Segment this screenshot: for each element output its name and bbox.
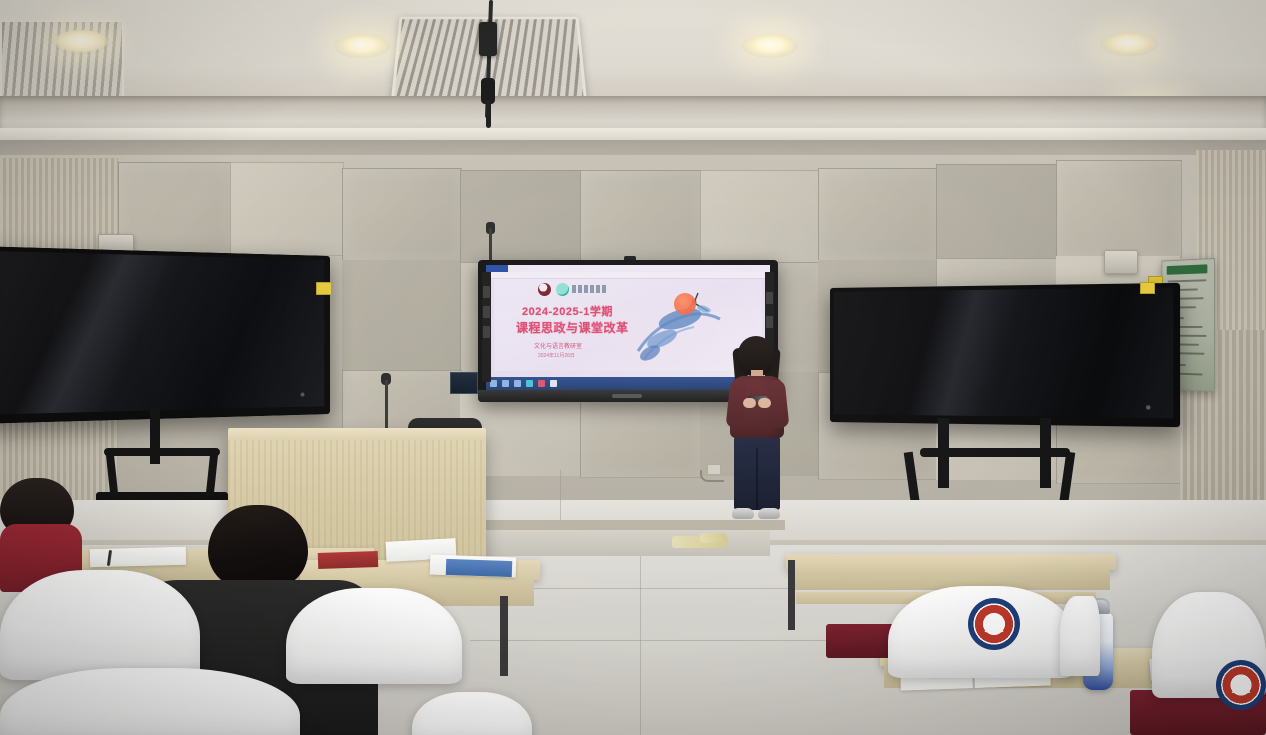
red-sun-artwork-icon — [674, 293, 696, 315]
lectern-top[interactable] — [228, 428, 486, 440]
camera-cable-tail — [486, 100, 491, 128]
whiteboard-button[interactable] — [483, 306, 490, 318]
presenter-shoe-right — [758, 508, 780, 519]
downlight-icon-4 — [1100, 32, 1158, 56]
wall-tile — [580, 170, 702, 264]
chair-cover[interactable] — [0, 570, 200, 680]
university-crest-icon — [968, 598, 1020, 650]
floor-tile-line — [640, 556, 641, 735]
outlet-cord — [700, 470, 724, 482]
partner-logo-icon — [556, 283, 569, 296]
podium-microphone-pole — [385, 380, 388, 430]
floor-tile-line — [490, 588, 820, 589]
red-document — [318, 551, 379, 569]
presentation-titlebar — [486, 265, 770, 272]
speaker-right-icon — [1104, 250, 1138, 274]
floor-tile-line — [560, 470, 561, 520]
taskbar-app-icon[interactable] — [550, 380, 557, 387]
slide-subtitle-line1: 文化与语言教研室 — [534, 341, 582, 350]
tv-left-stand-arm — [104, 448, 220, 456]
presenter-leg-seam — [756, 448, 758, 510]
tv-right-warning-sticker — [1140, 282, 1155, 294]
presenter-hand-left — [743, 398, 756, 408]
presenter — [726, 336, 788, 524]
chair-cover[interactable] — [1060, 596, 1100, 676]
floor-object — [700, 533, 726, 543]
downlight-icon-2 — [334, 34, 390, 58]
downlight-icon-3 — [742, 34, 798, 58]
presenter-shoe-left — [732, 508, 754, 519]
desk-leg — [788, 560, 795, 630]
wall-tile — [460, 170, 582, 264]
wall-tile — [118, 162, 232, 256]
university-logo-icon — [538, 283, 551, 296]
presentation-ribbon — [486, 272, 770, 279]
tv-left-screen[interactable] — [0, 250, 324, 415]
tv-right-screen[interactable] — [834, 287, 1173, 418]
ceiling-camera-icon — [479, 22, 497, 56]
slide-title-line1: 2024-2025-1学期 — [522, 303, 613, 319]
taskbar-app-icon[interactable] — [502, 380, 509, 387]
taskbar-app-icon[interactable] — [526, 380, 533, 387]
taskbar-app-icon[interactable] — [514, 380, 521, 387]
whiteboard-brand-logo — [612, 394, 642, 398]
wall-tile — [230, 162, 344, 256]
chair-cover[interactable] — [286, 588, 462, 684]
papers-on-desk — [90, 547, 186, 568]
blue-folder[interactable] — [446, 559, 513, 577]
wall-tile — [1056, 160, 1182, 258]
audience-head — [208, 505, 308, 590]
whiteboard-button[interactable] — [483, 326, 490, 338]
whiteboard-button[interactable] — [766, 292, 773, 304]
presenter-hand-right — [758, 398, 771, 408]
tv-left-warning-sticker — [316, 282, 332, 295]
slide-subtitle-line2: 2024年11月26日 — [538, 352, 575, 359]
tv-left[interactable] — [0, 246, 330, 424]
whiteboard-button[interactable] — [766, 316, 773, 328]
classroom-photo: 2024-2025-1学期 课程思政与课堂改革 文化与语言教研室 2024年11… — [0, 0, 1266, 735]
taskbar-start-icon[interactable] — [490, 380, 497, 387]
university-crest-icon — [1216, 660, 1266, 710]
logo-wordmark — [572, 285, 608, 293]
whiteboard-button[interactable] — [483, 286, 490, 298]
wall-tile — [818, 168, 938, 262]
slide-canvas: 2024-2025-1学期 课程思政与课堂改革 文化与语言教研室 2024年11… — [494, 279, 762, 371]
desk-leg — [500, 596, 508, 676]
wall-tile — [936, 164, 1058, 260]
tv-power-led-icon — [1146, 405, 1151, 409]
wall-tile — [700, 170, 820, 264]
wall-control-panel[interactable] — [450, 372, 478, 394]
wall-tile — [342, 168, 462, 262]
notice-board-header — [1167, 264, 1208, 274]
floor-tile-line — [470, 640, 840, 641]
taskbar-app-icon[interactable] — [538, 380, 545, 387]
whiteboard-left-control-strip[interactable] — [482, 272, 491, 382]
wall-tile — [342, 260, 460, 370]
downlight-icon-1 — [52, 30, 110, 54]
tv-right[interactable] — [830, 283, 1180, 427]
tv-right-stand-arm — [920, 448, 1070, 457]
slide-title-line2: 课程思政与课堂改革 — [516, 319, 629, 336]
